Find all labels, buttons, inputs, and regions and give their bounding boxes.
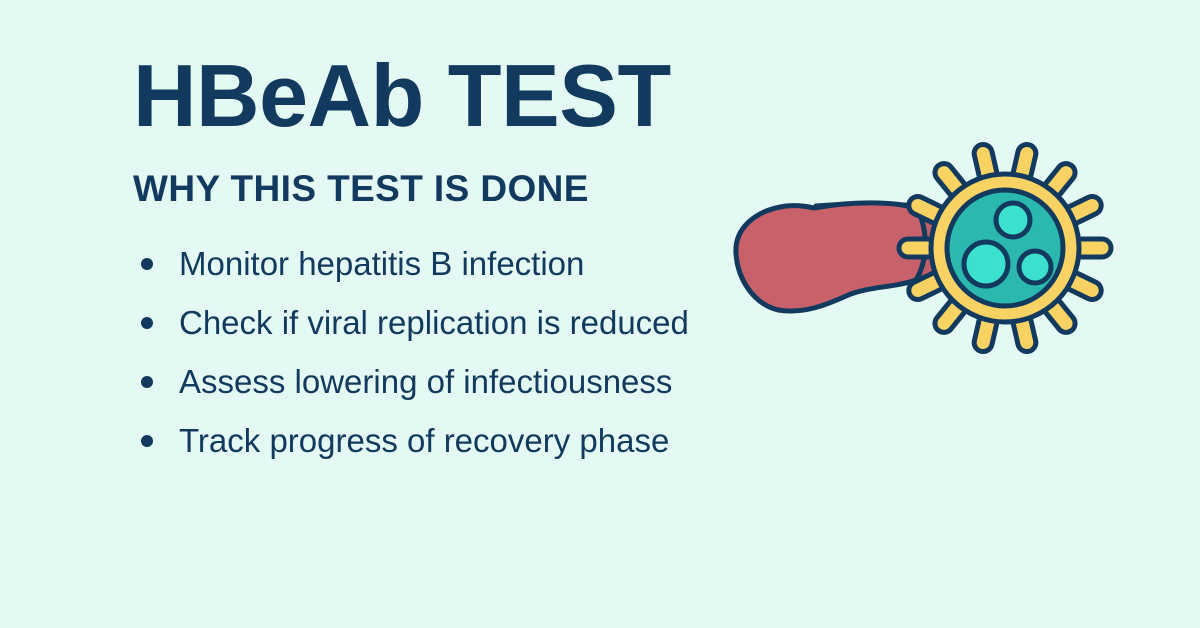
virus-nucleus [964,242,1008,286]
list-item-label: Track progress of recovery phase [179,422,669,459]
virus-nucleus [1019,251,1051,283]
bullet-dot-icon [141,317,153,329]
virus-icon [899,143,1111,354]
list-item-label: Assess lowering of infectiousness [179,363,672,400]
list-item: Track progress of recovery phase [133,411,933,470]
liver-and-virus-illustration [718,136,1118,366]
liver-left-lobe [736,203,925,311]
poster-canvas: HBeAb TEST WHY THIS TEST IS DONE Monitor… [0,0,1200,628]
list-item-label: Check if viral replication is reduced [179,304,689,341]
virus-nucleus [996,203,1030,237]
illustration-svg [718,136,1118,366]
bullet-dot-icon [141,258,153,270]
bullet-dot-icon [141,376,153,388]
page-title: HBeAb TEST [133,52,933,140]
bullet-dot-icon [141,435,153,447]
list-item-label: Monitor hepatitis B infection [179,245,584,282]
